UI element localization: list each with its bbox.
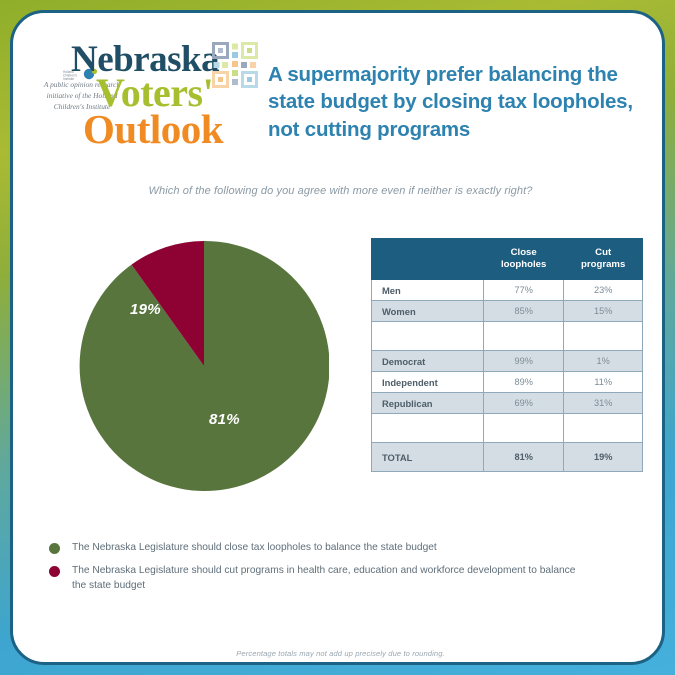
table-header-blank [372, 239, 484, 280]
table-head: Close loopholes Cut programs [372, 239, 643, 280]
cell-close-loopholes: 89% [484, 372, 564, 393]
table-row: Women 85% 15% [372, 301, 643, 322]
cell-cut-programs: 31% [564, 393, 643, 414]
legend-label: The Nebraska Legislature should cut prog… [72, 564, 592, 594]
cell-cut-programs: 19% [564, 443, 643, 472]
cell-close-loopholes: 81% [484, 443, 564, 472]
table-header-cut-programs: Cut programs [564, 239, 643, 280]
breakdown-table: Close loopholes Cut programs Men 77% 23%… [371, 238, 643, 472]
chart-legend: The Nebraska Legislature should close ta… [49, 541, 619, 601]
table-header-row: Close loopholes Cut programs [372, 239, 643, 280]
header: Holland Children's Institute A public op… [13, 13, 665, 173]
header-line-2: loopholes [501, 259, 546, 270]
cell-cut-programs [564, 322, 643, 351]
table-spacer-row [372, 414, 643, 443]
cell-cut-programs: 1% [564, 351, 643, 372]
table-row: Republican 69% 31% [372, 393, 643, 414]
page-title: A supermajority prefer balancing the sta… [268, 61, 658, 143]
legend-label: The Nebraska Legislature should close ta… [72, 541, 437, 556]
row-label: Democrat [372, 351, 484, 372]
table-spacer-row [372, 322, 643, 351]
table-row: Democrat 99% 1% [372, 351, 643, 372]
row-label: Independent [372, 372, 484, 393]
pie-chart: 81% 19% [79, 241, 329, 491]
infographic-card: Holland Children's Institute A public op… [10, 10, 665, 665]
pie-chart-svg [79, 241, 329, 491]
legend-dot-green-icon [49, 543, 60, 554]
cell-close-loopholes: 99% [484, 351, 564, 372]
table-row: Independent 89% 11% [372, 372, 643, 393]
cell-close-loopholes: 85% [484, 301, 564, 322]
row-label: TOTAL [372, 443, 484, 472]
cell-close-loopholes: 77% [484, 280, 564, 301]
header-line-1: Close [511, 247, 537, 258]
legend-dot-red-icon [49, 566, 60, 577]
cell-cut-programs: 11% [564, 372, 643, 393]
survey-question: Which of the following do you agree with… [13, 185, 665, 197]
qr-code-icon [211, 41, 259, 89]
table-total-row: TOTAL 81% 19% [372, 443, 643, 472]
header-line-1: Cut [595, 247, 611, 258]
row-label: Women [372, 301, 484, 322]
table-header-close-loopholes: Close loopholes [484, 239, 564, 280]
pie-label-cut-programs: 19% [130, 301, 161, 318]
pie-slice-close-loopholes [80, 241, 329, 491]
row-label [372, 322, 484, 351]
row-label: Men [372, 280, 484, 301]
cell-cut-programs: 23% [564, 280, 643, 301]
legend-item-cut-programs: The Nebraska Legislature should cut prog… [49, 564, 619, 594]
cell-close-loopholes [484, 322, 564, 351]
row-label: Republican [372, 393, 484, 414]
cell-cut-programs: 15% [564, 301, 643, 322]
row-label [372, 414, 484, 443]
cell-cut-programs [564, 414, 643, 443]
table-body: Men 77% 23% Women 85% 15% Democrat 99% 1… [372, 280, 643, 472]
cell-close-loopholes: 69% [484, 393, 564, 414]
table-row: Men 77% 23% [372, 280, 643, 301]
footnote: Percentage totals may not add up precise… [13, 649, 665, 658]
cell-close-loopholes [484, 414, 564, 443]
pie-label-close-loopholes: 81% [209, 411, 240, 428]
header-line-2: programs [581, 259, 625, 270]
legend-item-close-loopholes: The Nebraska Legislature should close ta… [49, 541, 619, 556]
logo-word-outlook: Outlook [83, 109, 223, 150]
